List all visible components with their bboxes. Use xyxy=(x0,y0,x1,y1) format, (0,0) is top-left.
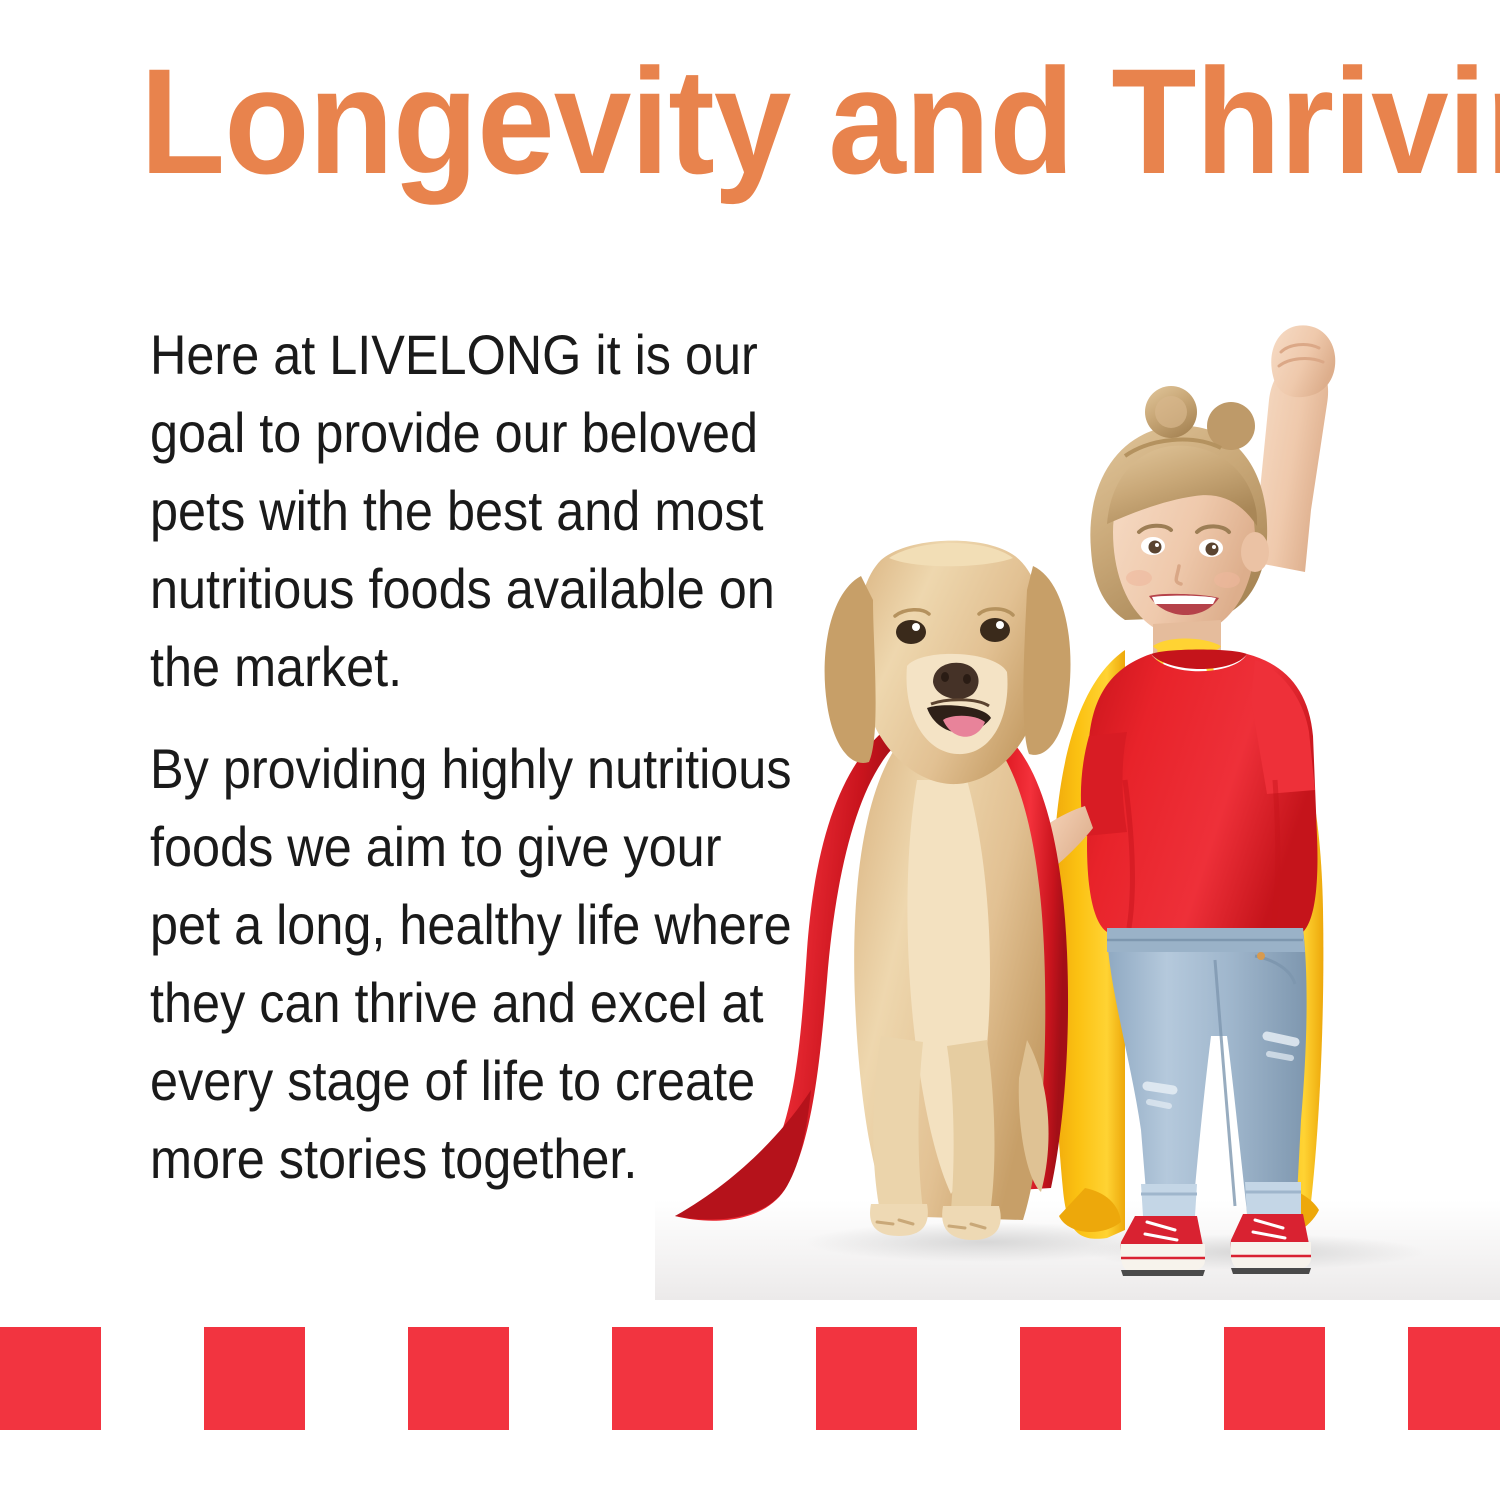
band-square xyxy=(408,1327,509,1430)
band-square xyxy=(612,1327,713,1430)
paragraph-1: Here at LIVELONG it is our goal to provi… xyxy=(150,316,800,706)
band-square xyxy=(1408,1327,1500,1430)
left-sneaker xyxy=(1121,1216,1206,1276)
paragraph-2: By providing highly nutritious foods we … xyxy=(150,730,800,1198)
bottom-square-band xyxy=(0,1327,1500,1430)
poster-canvas: Longevity and Thriving Life Here at LIVE… xyxy=(0,0,1500,1500)
band-square xyxy=(204,1327,305,1430)
body-copy: Here at LIVELONG it is our goal to provi… xyxy=(150,316,800,1198)
page-title: Longevity and Thriving Life xyxy=(140,46,1284,196)
band-square xyxy=(816,1327,917,1430)
band-square xyxy=(1224,1327,1325,1430)
band-square xyxy=(1020,1327,1121,1430)
band-square xyxy=(0,1327,101,1430)
right-sneaker xyxy=(1231,1214,1312,1274)
